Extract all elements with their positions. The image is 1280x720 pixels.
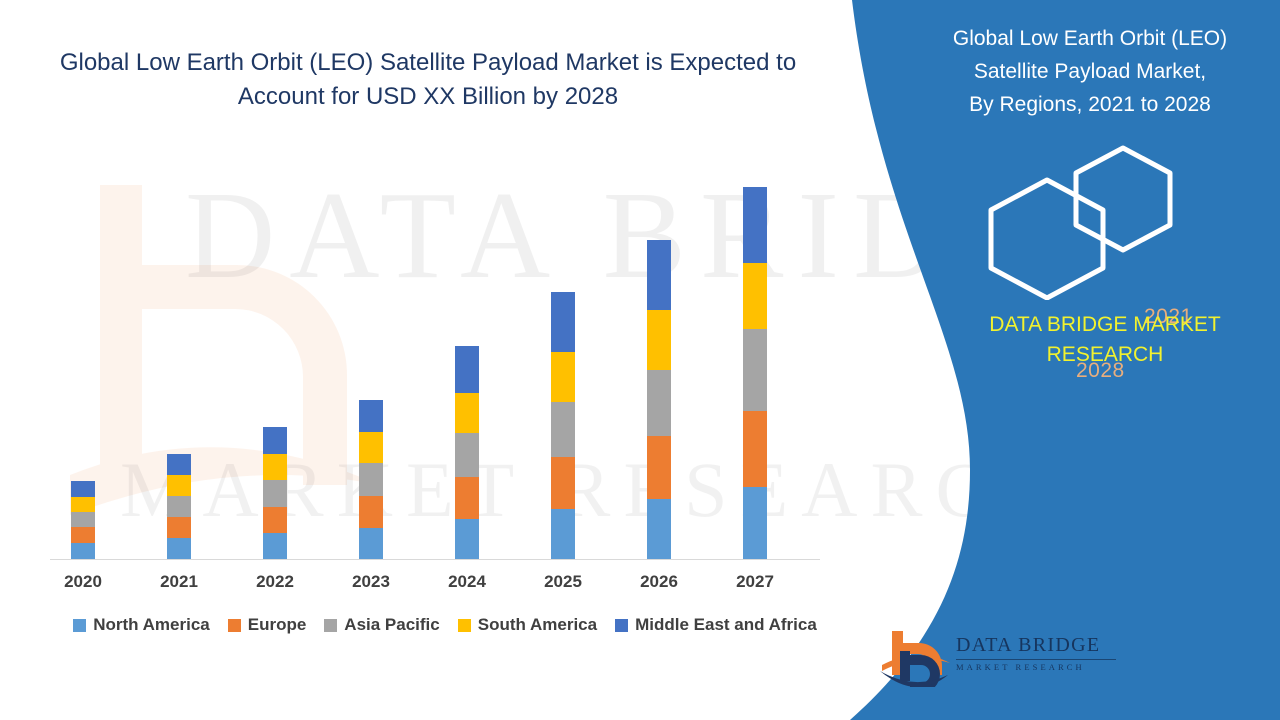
panel-title-line-1: Global Low Earth Orbit (LEO) — [920, 22, 1260, 55]
legend-label: South America — [478, 615, 597, 635]
bar-segment-2024-europe — [455, 477, 479, 519]
chart-legend: North AmericaEuropeAsia PacificSouth Ame… — [50, 615, 840, 635]
bar-segment-2022-south-america — [263, 454, 287, 480]
logo-wordmark: DATA BRIDGE MARKET RESEARCH — [956, 635, 1121, 672]
bar-segment-2023-north-america — [359, 528, 383, 559]
legend-label: North America — [93, 615, 210, 635]
x-label-2021: 2021 — [131, 572, 227, 592]
bar-segment-2025-asia-pacific — [551, 402, 575, 457]
x-label-2027: 2027 — [707, 572, 803, 592]
brand-line-2: RESEARCH — [950, 340, 1260, 370]
bar-segment-2024-north-america — [455, 519, 479, 559]
stacked-bar-chart — [50, 150, 820, 560]
panel-title-line-3: By Regions, 2021 to 2028 — [920, 88, 1260, 121]
bar-2021 — [167, 454, 191, 559]
logo-subtitle: MARKET RESEARCH — [956, 663, 1121, 672]
bar-segment-2021-asia-pacific — [167, 496, 191, 517]
logo-name: DATA BRIDGE — [956, 635, 1121, 655]
bar-segment-2025-north-america — [551, 509, 575, 559]
bar-2022 — [263, 427, 287, 559]
bar-segment-2021-north-america — [167, 538, 191, 559]
x-axis-line — [50, 559, 820, 560]
bar-segment-2020-asia-pacific — [71, 512, 95, 527]
bar-segment-2025-europe — [551, 457, 575, 509]
data-bridge-logo: DATA BRIDGE MARKET RESEARCH — [880, 625, 1110, 693]
bar-2020 — [71, 481, 95, 559]
bar-2027 — [743, 187, 767, 559]
bar-segment-2020-north-america — [71, 543, 95, 559]
bar-segment-2022-europe — [263, 507, 287, 533]
legend-label: Middle East and Africa — [635, 615, 817, 635]
bar-segment-2027-asia-pacific — [743, 329, 767, 411]
bar-segment-2021-south-america — [167, 475, 191, 496]
bar-segment-2020-europe — [71, 527, 95, 543]
brand-line-1: DATA BRIDGE MARKET — [950, 310, 1260, 340]
page-title: Global Low Earth Orbit (LEO) Satellite P… — [48, 46, 808, 114]
bar-segment-2024-south-america — [455, 393, 479, 433]
panel-title-line-2: Satellite Payload Market, — [920, 55, 1260, 88]
hexagon-outlines-icon — [975, 140, 1205, 300]
bar-2023 — [359, 400, 383, 559]
legend-swatch-icon — [324, 619, 337, 632]
bar-segment-2023-middle-east-and-africa — [359, 400, 383, 432]
legend-swatch-icon — [73, 619, 86, 632]
bar-segment-2023-asia-pacific — [359, 463, 383, 496]
bar-segment-2022-middle-east-and-africa — [263, 427, 287, 454]
bar-segment-2027-middle-east-and-africa — [743, 187, 767, 263]
x-axis-labels: 20202021202220232024202520262027 — [50, 572, 820, 596]
bar-segment-2026-south-america — [647, 310, 671, 370]
x-label-2026: 2026 — [611, 572, 707, 592]
bar-segment-2026-middle-east-and-africa — [647, 240, 671, 310]
x-label-2025: 2025 — [515, 572, 611, 592]
data-bridge-logo-icon — [880, 625, 952, 687]
brand-panel-content: Global Low Earth Orbit (LEO) Satellite P… — [820, 0, 1280, 720]
bar-segment-2026-europe — [647, 436, 671, 499]
legend-swatch-icon — [228, 619, 241, 632]
legend-item-europe[interactable]: Europe — [228, 615, 307, 635]
bar-2025 — [551, 292, 575, 559]
bar-segment-2023-europe — [359, 496, 383, 528]
legend-item-middle-east-and-africa[interactable]: Middle East and Africa — [615, 615, 817, 635]
bar-segment-2021-middle-east-and-africa — [167, 454, 191, 475]
bar-2024 — [455, 346, 479, 559]
bar-segment-2026-north-america — [647, 499, 671, 559]
bar-segment-2020-south-america — [71, 497, 95, 512]
brand-name: DATA BRIDGE MARKET RESEARCH — [950, 310, 1260, 371]
bar-segment-2026-asia-pacific — [647, 370, 671, 436]
bar-segment-2024-asia-pacific — [455, 433, 479, 477]
bar-segment-2023-south-america — [359, 432, 383, 463]
legend-label: Europe — [248, 615, 307, 635]
legend-label: Asia Pacific — [344, 615, 439, 635]
bar-segment-2022-asia-pacific — [263, 480, 287, 507]
bar-segment-2022-north-america — [263, 533, 287, 559]
legend-swatch-icon — [615, 619, 628, 632]
legend-item-north-america[interactable]: North America — [73, 615, 210, 635]
x-label-2022: 2022 — [227, 572, 323, 592]
bar-segment-2024-middle-east-and-africa — [455, 346, 479, 393]
bar-segment-2027-south-america — [743, 263, 767, 329]
infographic-root: DATA BRIDGE MARKET RESEARCH Global Low E… — [0, 0, 1280, 720]
x-label-2023: 2023 — [323, 572, 419, 592]
x-label-2020: 2020 — [35, 572, 131, 592]
bar-segment-2020-middle-east-and-africa — [71, 481, 95, 497]
bar-2026 — [647, 240, 671, 559]
panel-title: Global Low Earth Orbit (LEO) Satellite P… — [920, 22, 1260, 122]
logo-divider — [956, 659, 1116, 660]
legend-item-asia-pacific[interactable]: Asia Pacific — [324, 615, 439, 635]
bar-segment-2025-middle-east-and-africa — [551, 292, 575, 352]
bar-segment-2027-europe — [743, 411, 767, 487]
x-label-2024: 2024 — [419, 572, 515, 592]
bar-segment-2025-south-america — [551, 352, 575, 402]
year-hexagons: 2021 2028 — [975, 140, 1205, 300]
legend-item-south-america[interactable]: South America — [458, 615, 597, 635]
chart-pane: DATA BRIDGE MARKET RESEARCH Global Low E… — [0, 0, 900, 720]
bar-segment-2021-europe — [167, 517, 191, 538]
bar-segment-2027-north-america — [743, 487, 767, 559]
legend-swatch-icon — [458, 619, 471, 632]
